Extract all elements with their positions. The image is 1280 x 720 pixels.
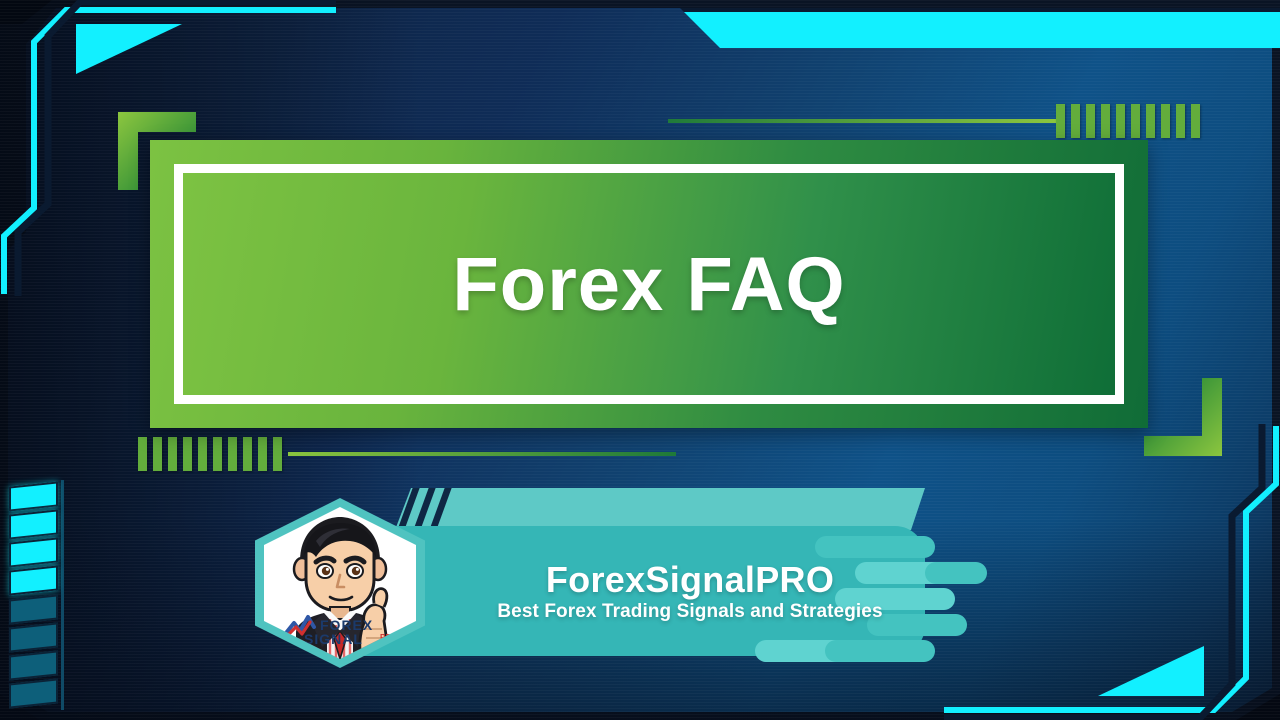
tick-dash bbox=[1191, 104, 1200, 138]
page-title: Forex FAQ bbox=[452, 241, 845, 328]
tick-dash bbox=[243, 437, 252, 471]
level-segment bbox=[9, 678, 58, 708]
tick-line bbox=[288, 452, 676, 456]
hero-frame: Forex FAQ bbox=[150, 140, 1148, 428]
level-indicator bbox=[6, 480, 64, 710]
tick-dash bbox=[1131, 104, 1140, 138]
tick-dash bbox=[153, 437, 162, 471]
tick-dash bbox=[228, 437, 237, 471]
tick-dash bbox=[1086, 104, 1095, 138]
level-segment bbox=[9, 650, 58, 680]
hero-frame-interior: Forex FAQ bbox=[183, 173, 1115, 395]
tick-dash bbox=[258, 437, 267, 471]
tick-dash bbox=[1056, 104, 1065, 138]
brand-text-block: ForexSignalPRO Best Forex Trading Signal… bbox=[455, 532, 925, 652]
tick-dash bbox=[213, 437, 222, 471]
tick-dash bbox=[168, 437, 177, 471]
tick-dash bbox=[183, 437, 192, 471]
level-segment bbox=[9, 538, 58, 568]
brand-name: ForexSignalPRO bbox=[546, 561, 834, 599]
tick-dash bbox=[1176, 104, 1185, 138]
brand-band-top bbox=[395, 488, 925, 530]
tick-dash bbox=[1101, 104, 1110, 138]
tick-dash bbox=[1071, 104, 1080, 138]
level-segment bbox=[9, 594, 58, 624]
svg-text:SIGNAL: SIGNAL bbox=[304, 631, 363, 647]
tick-row-bottom bbox=[138, 437, 676, 471]
avatar-frame: FOREX SIGNAL PRO bbox=[264, 507, 416, 659]
speed-pill bbox=[925, 562, 987, 584]
level-segment bbox=[9, 622, 58, 652]
tick-row-top bbox=[668, 104, 1206, 138]
tick-dash bbox=[273, 437, 282, 471]
brand-tagline: Best Forex Trading Signals and Strategie… bbox=[497, 601, 882, 623]
tick-dash bbox=[1116, 104, 1125, 138]
tick-dash bbox=[198, 437, 207, 471]
tick-dash bbox=[1161, 104, 1170, 138]
tick-line bbox=[668, 119, 1056, 123]
tick-dash bbox=[1146, 104, 1155, 138]
level-segment bbox=[9, 510, 58, 540]
tick-dash bbox=[138, 437, 147, 471]
brand-bar: ForexSignalPRO Best Forex Trading Signal… bbox=[255, 488, 1045, 678]
level-segment bbox=[9, 481, 58, 511]
cyan-band-top-right bbox=[640, 8, 1280, 48]
slide-canvas: Forex FAQ ForexSignalPRO Best Forex Trad… bbox=[0, 0, 1280, 720]
level-segment bbox=[9, 566, 58, 596]
hero-frame-white-border: Forex FAQ bbox=[174, 164, 1124, 404]
